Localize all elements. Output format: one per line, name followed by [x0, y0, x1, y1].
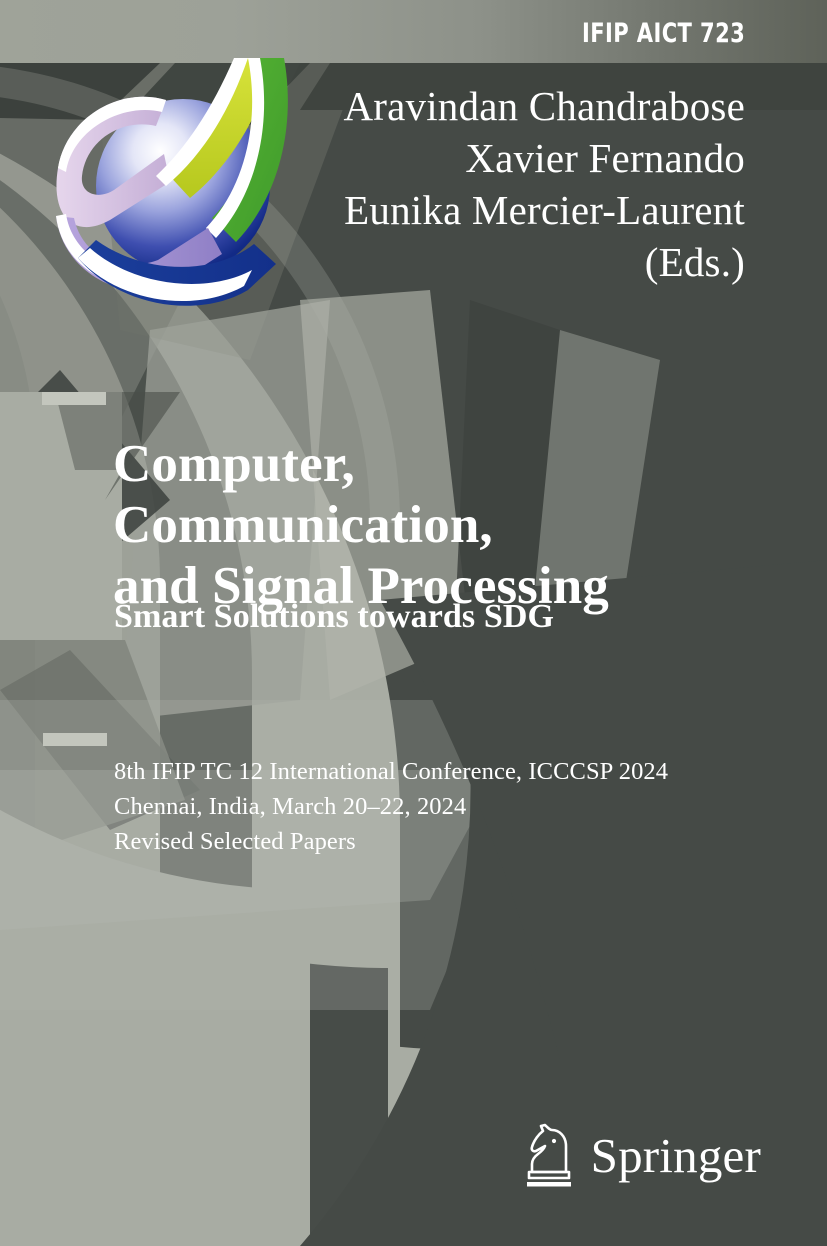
springer-logo: Springer: [521, 1122, 761, 1188]
title-line: Computer,: [113, 434, 793, 495]
book-subtitle: Smart Solutions towards SDG: [114, 598, 794, 636]
editors-block: Aravindan Chandrabose Xavier Fernando Eu…: [125, 80, 745, 288]
book-cover: IFIP AICT 723: [0, 0, 827, 1246]
conference-info: 8th IFIP TC 12 International Conference,…: [114, 755, 814, 859]
accent-bar-top: [42, 392, 106, 405]
book-title: Computer, Communication, and Signal Proc…: [113, 434, 793, 618]
conference-line: 8th IFIP TC 12 International Conference,…: [114, 755, 814, 790]
editor-name: Eunika Mercier-Laurent: [125, 184, 745, 236]
conference-line: Revised Selected Papers: [114, 825, 814, 860]
springer-wordmark: Springer: [591, 1131, 761, 1180]
accent-bar-bottom: [43, 733, 107, 746]
conference-line: Chennai, India, March 20–22, 2024: [114, 790, 814, 825]
series-band: IFIP AICT 723: [0, 0, 827, 63]
title-line: Communication,: [113, 495, 793, 556]
editors-suffix: (Eds.): [125, 236, 745, 288]
editor-name: Aravindan Chandrabose: [125, 80, 745, 132]
series-number-label: IFIP AICT 723: [582, 18, 745, 49]
springer-knight-icon: [521, 1122, 577, 1188]
editor-name: Xavier Fernando: [125, 132, 745, 184]
